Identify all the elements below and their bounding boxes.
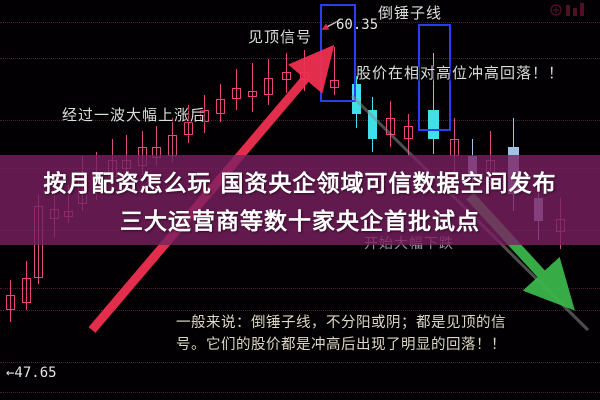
gridline <box>0 362 600 364</box>
candlestick <box>64 185 73 223</box>
candle-body <box>50 209 59 220</box>
candlestick <box>300 50 309 90</box>
bottom-price-label: ←47.65 <box>6 365 57 381</box>
candlestick <box>450 118 459 177</box>
candlestick <box>534 181 543 240</box>
stock-chart-screenshot: 经过一波大幅上涨后 见顶信号 倒锤子线 股价在相对高位冲高回落！！ 开始大幅下跌… <box>0 0 600 400</box>
candlestick <box>556 198 565 249</box>
candle-body <box>64 211 73 217</box>
candle-body <box>152 147 161 158</box>
candle-body <box>404 126 413 139</box>
candlestick <box>486 131 495 186</box>
candle-body <box>508 147 519 193</box>
top-price-label: 60.35 <box>336 17 378 33</box>
gridline <box>0 230 600 232</box>
annotation-top-signal: 见顶信号 <box>248 26 312 47</box>
candle-wick <box>126 135 127 183</box>
annotation-big-drop: 开始大幅下跌 <box>364 233 454 253</box>
candle-body <box>122 160 131 168</box>
candlestick <box>248 63 257 111</box>
explanation-block: 一般来说：倒锤子线，不分阳或阴；都是见顶的信 号。它们的股价都是冲高后出现了明显… <box>176 312 594 356</box>
candlestick <box>216 84 225 122</box>
candle-body <box>248 91 257 97</box>
candlestick <box>138 131 147 175</box>
candle-body <box>450 139 459 156</box>
candlestick <box>78 156 87 211</box>
gridline <box>0 22 600 24</box>
candle-body <box>138 147 147 166</box>
watermark-icon <box>548 2 596 20</box>
candlestick <box>282 53 291 93</box>
candle-body <box>22 278 31 303</box>
candle-body <box>216 99 225 114</box>
candlestick <box>22 261 31 309</box>
annotation-high-pullback: 股价在相对高位冲高回落！！ <box>356 62 564 83</box>
candle-body <box>108 160 117 177</box>
candlestick <box>92 152 101 200</box>
candle-body <box>368 110 377 140</box>
candle-body <box>300 72 309 80</box>
annotation-rise-note: 经过一波大幅上涨后 <box>62 104 206 125</box>
candlestick <box>50 179 59 238</box>
candle-body <box>78 175 87 205</box>
candle-body <box>168 135 177 156</box>
candle-body <box>386 118 395 135</box>
candle-body <box>232 88 241 99</box>
candle-body <box>264 78 273 95</box>
candlestick <box>122 135 131 183</box>
candlestick <box>152 126 161 166</box>
candle-body <box>534 198 543 221</box>
gridline <box>0 288 600 290</box>
candle-body <box>282 72 291 80</box>
candlestick <box>368 97 377 152</box>
candle-wick <box>156 126 157 166</box>
gridline <box>0 392 600 394</box>
explanation-line-1: 一般来说：倒锤子线，不分阳或阴；都是见顶的信 <box>176 312 594 334</box>
candle-body <box>468 156 477 177</box>
candle-wick <box>252 63 253 111</box>
candlestick <box>386 101 395 147</box>
candle-body <box>34 206 43 278</box>
annotation-inverted-hammer: 倒锤子线 <box>378 2 442 23</box>
candle-body <box>92 175 101 181</box>
candlestick <box>468 139 477 192</box>
candlestick <box>6 280 15 322</box>
candlestick <box>108 139 117 185</box>
candlestick <box>264 59 273 105</box>
candle-wick <box>68 185 69 223</box>
candlestick <box>232 69 241 109</box>
candlestick <box>34 194 43 285</box>
candle-body <box>556 219 565 232</box>
candlestick <box>508 118 519 211</box>
candle-wick <box>304 50 305 90</box>
explanation-line-2: 号。它们的股价都是冲高后出现了明显的回落！！ <box>176 334 594 356</box>
candlestick <box>404 114 413 156</box>
candle-body <box>6 295 15 310</box>
candle-wick <box>490 131 491 186</box>
candle-body <box>486 160 495 173</box>
